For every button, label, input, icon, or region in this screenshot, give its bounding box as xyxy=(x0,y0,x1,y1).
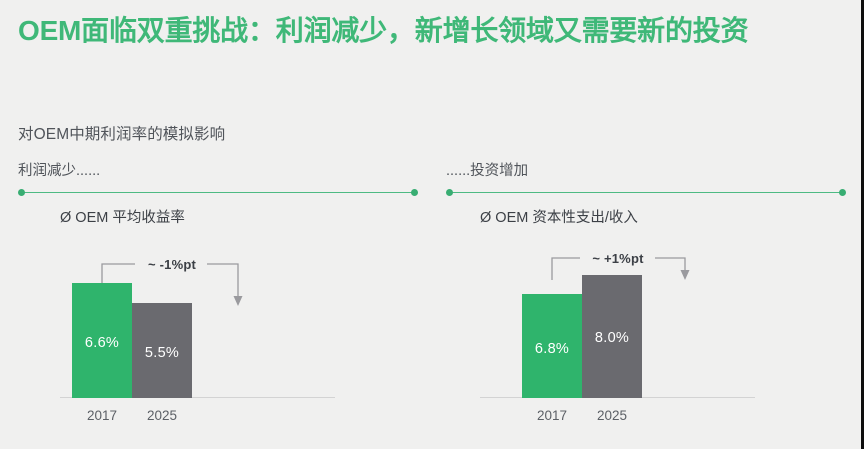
x-tick-2025: 2025 xyxy=(132,408,192,423)
bar-value-2025: 5.5% xyxy=(132,345,192,361)
bar-value-2017: 6.8% xyxy=(522,341,582,357)
section-rule-right xyxy=(446,188,846,197)
x-tick-2017: 2017 xyxy=(72,408,132,423)
bar-2025[interactable]: 5.5% xyxy=(132,303,192,398)
delta-label: ~ -1%pt xyxy=(138,257,206,272)
page-subtitle: 对OEM中期利润率的模拟影响 xyxy=(18,122,225,144)
rule-dot-start xyxy=(446,189,453,196)
chart-panel-capex-over-revenue: Ø OEM 资本性支出/收入 ~ +1%pt 6.8% 8.0% 2017 20… xyxy=(450,206,850,431)
section-label-profit-decline: 利润减少...... xyxy=(18,164,418,179)
bar-value-2025: 8.0% xyxy=(582,330,642,346)
rule-line xyxy=(450,192,842,194)
slide-canvas: OEM面临双重挑战：利润减少，新增长领域又需要新的投资 对OEM中期利润率的模拟… xyxy=(0,0,864,449)
chart-plot-area: ~ -1%pt 6.6% 5.5% 2017 2025 xyxy=(30,240,430,431)
section-header-right: ......投资增加 xyxy=(446,164,846,198)
rule-line xyxy=(22,192,414,194)
section-rule-left xyxy=(18,188,418,197)
bar-2017[interactable]: 6.8% xyxy=(522,294,582,398)
x-tick-2017: 2017 xyxy=(522,408,582,423)
delta-annotation-graphic xyxy=(450,240,850,431)
chart-plot-area: ~ +1%pt 6.8% 8.0% 2017 2025 xyxy=(450,240,850,431)
chart-panel-average-return: Ø OEM 平均收益率 ~ -1%pt 6.6% 5.5% 2017 2025 xyxy=(30,206,430,431)
bar-2017[interactable]: 6.6% xyxy=(72,283,132,398)
chart-title: Ø OEM 平均收益率 xyxy=(60,206,185,227)
rule-dot-start xyxy=(18,189,25,196)
bar-value-2017: 6.6% xyxy=(72,335,132,351)
section-label-investment-increase: ......投资增加 xyxy=(446,164,846,179)
chart-title: Ø OEM 资本性支出/收入 xyxy=(480,206,638,227)
bar-2025[interactable]: 8.0% xyxy=(582,275,642,398)
rule-dot-end xyxy=(839,189,846,196)
rule-dot-end xyxy=(411,189,418,196)
page-title: OEM面临双重挑战：利润减少，新增长领域又需要新的投资 xyxy=(18,12,846,50)
x-tick-2025: 2025 xyxy=(582,408,642,423)
delta-label: ~ +1%pt xyxy=(582,251,654,266)
section-header-left: 利润减少...... xyxy=(18,164,418,198)
